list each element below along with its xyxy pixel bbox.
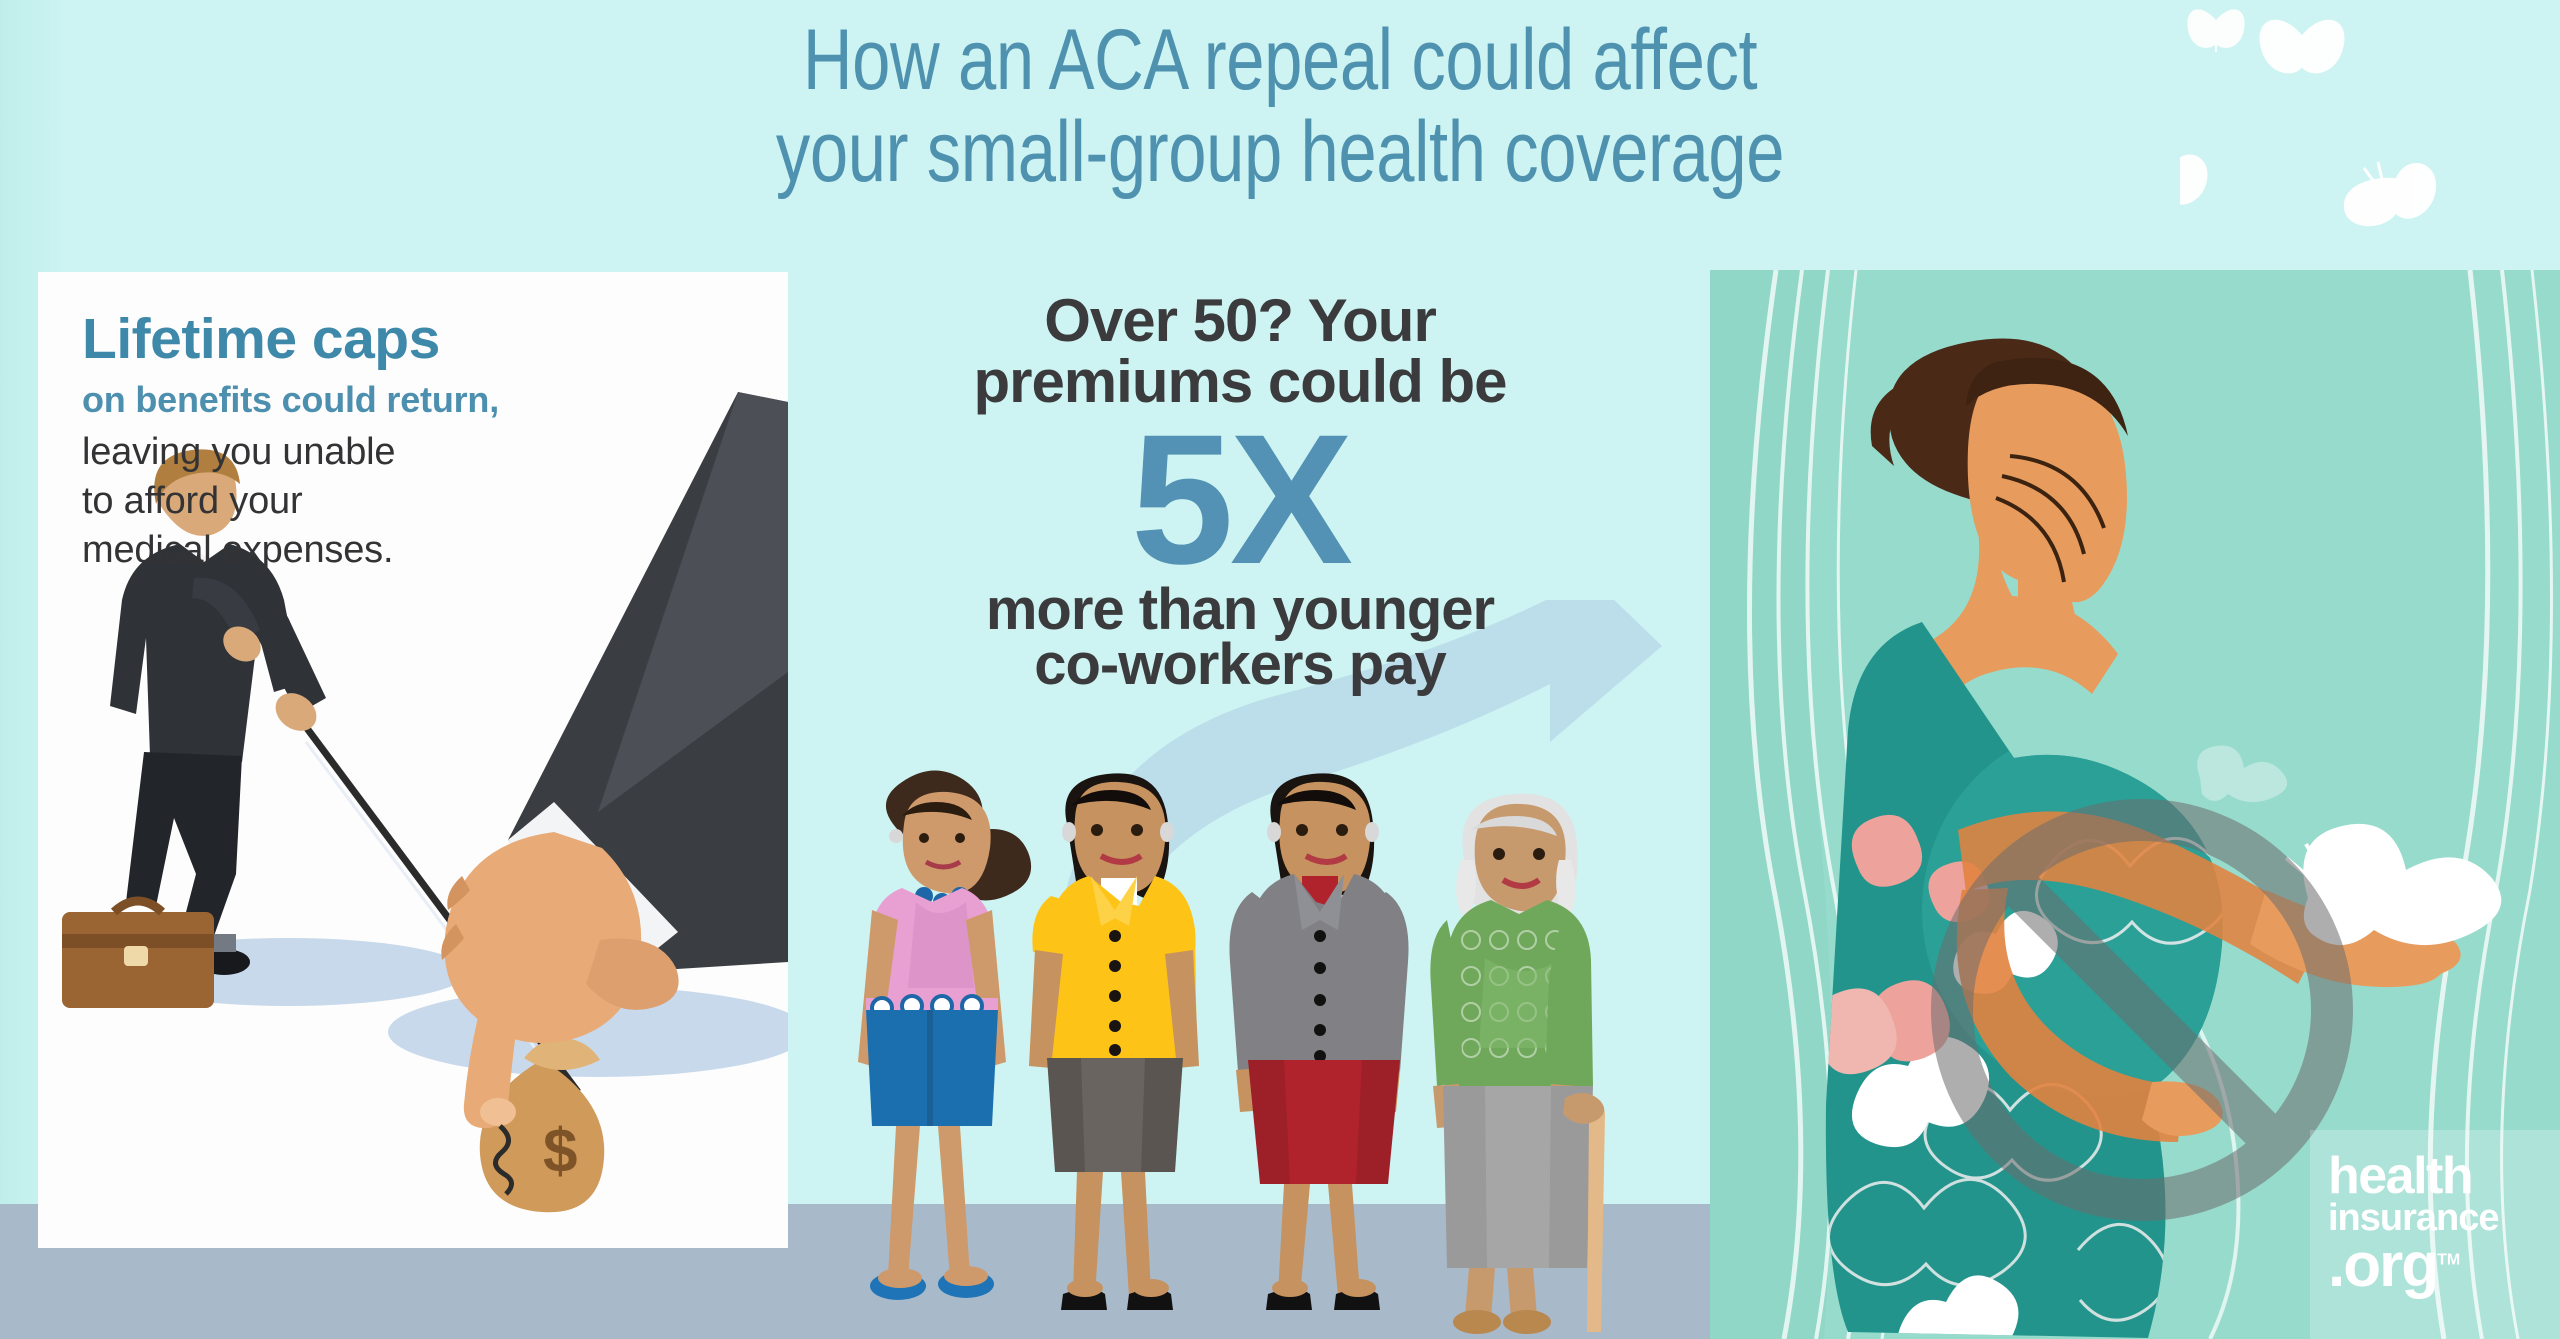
lifetime-caps-body-line-1: leaving you unable: [82, 428, 722, 477]
premium-line-4: co-workers pay: [860, 635, 1620, 695]
trademark-symbol: TM: [2437, 1251, 2460, 1268]
lifetime-caps-heading: Lifetime caps: [82, 310, 722, 369]
premium-line-1: Over 50? Your: [860, 290, 1620, 351]
page-title: How an ACA repeal could affect your smal…: [256, 14, 2304, 198]
lifetime-caps-subheading: on benefits could return,: [82, 377, 722, 422]
dollar-sign: $: [543, 1117, 577, 1186]
lifetime-caps-body-line-3: medical expenses.: [82, 526, 722, 575]
infographic-canvas: How an ACA repeal could affect your smal…: [0, 0, 2560, 1339]
premium-multiplier: 5X: [860, 414, 1620, 586]
logo-org-text: .org: [2328, 1231, 2437, 1300]
four-women-illustration: [820, 770, 1620, 1339]
title-line-1: How an ACA repeal could affect: [803, 12, 1757, 108]
site-logo[interactable]: health insurance .orgTM: [2310, 1130, 2560, 1339]
lifetime-caps-card: $ Lif: [38, 272, 788, 1248]
logo-line-org: .orgTM: [2328, 1237, 2542, 1294]
logo-line-health: health: [2328, 1154, 2542, 1200]
woman-yellow-blouse: [1029, 773, 1199, 1310]
premium-increase-text-block: Over 50? Your premiums could be 5X more …: [860, 290, 1620, 695]
woman-gray-blazer: [1229, 773, 1408, 1310]
woman-pink-top: [858, 770, 1031, 1300]
older-woman-green-top: [1430, 794, 1605, 1334]
lifetime-caps-text-block: Lifetime caps on benefits could return, …: [82, 310, 722, 574]
lifetime-caps-body-line-2: to afford your: [82, 477, 722, 526]
maternity-coverage-panel: health insurance .orgTM: [1710, 270, 2560, 1339]
title-line-2: your small-group health coverage: [256, 106, 2304, 198]
briefcase: [62, 901, 214, 1008]
